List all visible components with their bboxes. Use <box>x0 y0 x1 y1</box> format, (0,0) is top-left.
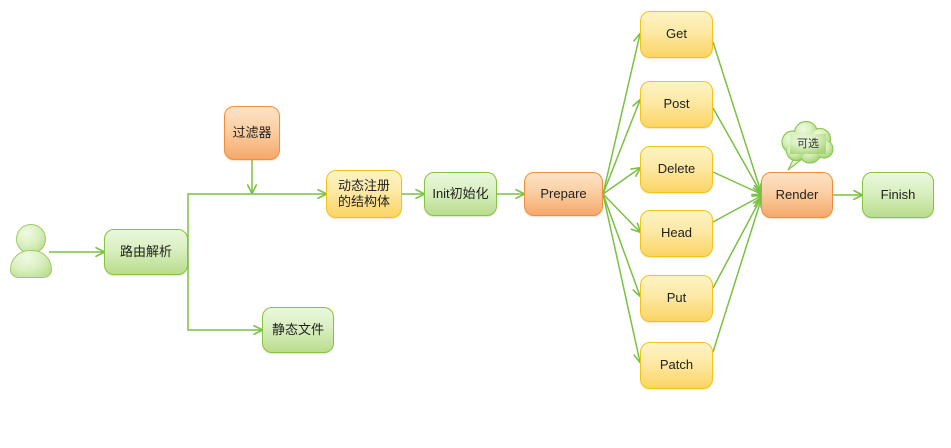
edge-prepare-to-put <box>603 194 640 296</box>
actor-body-icon <box>10 250 52 278</box>
edge-layer <box>0 0 951 448</box>
node-finish[interactable]: Finish <box>862 172 934 218</box>
node-label: Render <box>776 187 819 203</box>
edge-prepare-to-post <box>603 100 640 194</box>
edge-put-to-render <box>713 198 761 288</box>
cloud-label: 可选 <box>772 120 844 172</box>
node-label: 过滤器 <box>232 125 271 141</box>
edge-route-to-static <box>188 252 262 330</box>
node-init[interactable]: Init初始化 <box>424 172 497 216</box>
node-prepare[interactable]: Prepare <box>524 172 603 216</box>
node-method-put[interactable]: Put <box>640 275 713 322</box>
node-label: Prepare <box>540 186 586 202</box>
node-method-get[interactable]: Get <box>640 11 713 58</box>
node-static-file[interactable]: 静态文件 <box>262 307 334 353</box>
node-route-parse[interactable]: 路由解析 <box>104 229 188 275</box>
node-label: 动态注册 的结构体 <box>338 178 390 211</box>
edge-delete-to-render <box>713 172 761 194</box>
node-method-post[interactable]: Post <box>640 81 713 128</box>
node-render[interactable]: Render <box>761 172 833 218</box>
node-label: Get <box>666 26 687 42</box>
edge-head-to-render <box>713 196 761 222</box>
edge-prepare-to-delete <box>603 168 640 194</box>
node-label: Finish <box>881 187 916 203</box>
node-label: Put <box>667 290 687 306</box>
node-method-head[interactable]: Head <box>640 210 713 257</box>
edge-prepare-to-get <box>603 34 640 194</box>
node-label: Post <box>663 96 689 112</box>
user-actor[interactable] <box>8 224 54 280</box>
optional-note-cloud[interactable]: 可选 <box>772 120 844 172</box>
node-dynamic-struct[interactable]: 动态注册 的结构体 <box>326 170 402 218</box>
edge-patch-to-render <box>713 200 761 352</box>
edge-post-to-render <box>713 108 761 193</box>
node-label: Delete <box>658 161 696 177</box>
node-label: 路由解析 <box>120 244 172 260</box>
node-label: Init初始化 <box>432 186 488 202</box>
node-label: Patch <box>660 357 693 373</box>
node-method-patch[interactable]: Patch <box>640 342 713 389</box>
edge-prepare-to-head <box>603 194 640 232</box>
flowchart-canvas: 路由解析 过滤器 静态文件 动态注册 的结构体 Init初始化 Prepare … <box>0 0 951 448</box>
edge-prepare-to-patch <box>603 194 640 362</box>
edge-get-to-render <box>713 42 761 192</box>
node-filter[interactable]: 过滤器 <box>224 106 280 160</box>
node-label: 静态文件 <box>272 322 324 338</box>
node-method-delete[interactable]: Delete <box>640 146 713 193</box>
edge-route-to-dynamic <box>188 194 326 252</box>
node-label: Head <box>661 225 692 241</box>
